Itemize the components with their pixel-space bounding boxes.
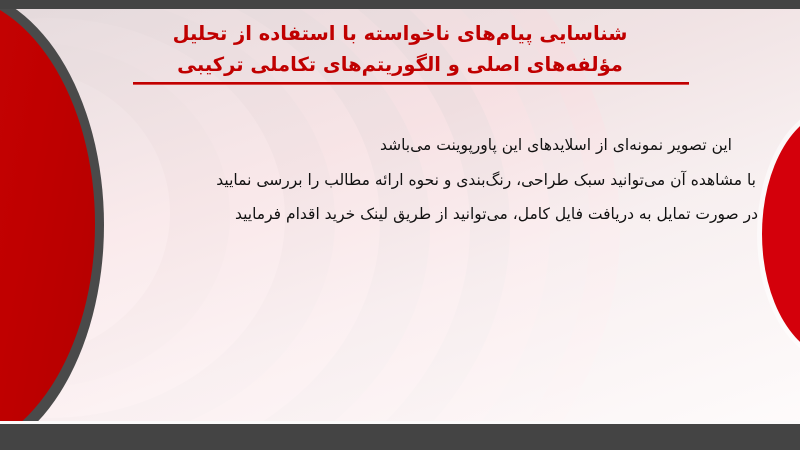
slide-bottom-rail	[0, 424, 800, 450]
slide-title-line-1: شناسایی پیام‌های ناخواسته با استفاده از …	[100, 18, 700, 49]
slide-title-line-2: مؤلفه‌های اصلی و الگوریتم‌های تکاملی ترک…	[100, 49, 700, 80]
slide-body-text: این تصویر نمونه‌ای از اسلایدهای این پاور…	[110, 128, 760, 232]
title-underline-rule	[133, 82, 689, 85]
presentation-slide: شناسایی پیام‌های ناخواسته با استفاده از …	[0, 0, 800, 450]
slide-body-line-2: با مشاهده آن می‌توانید سبک طراحی، رنگ‌بن…	[110, 163, 760, 198]
slide-content-panel: شناسایی پیام‌های ناخواسته با استفاده از …	[0, 8, 800, 423]
slide-body-line-3: در صورت تمایل به دریافت فایل کامل، می‌تو…	[110, 197, 760, 232]
slide-title: شناسایی پیام‌های ناخواسته با استفاده از …	[100, 18, 700, 80]
slide-body-line-1: این تصویر نمونه‌ای از اسلایدهای این پاور…	[110, 128, 760, 163]
slide-top-rail	[0, 0, 800, 9]
